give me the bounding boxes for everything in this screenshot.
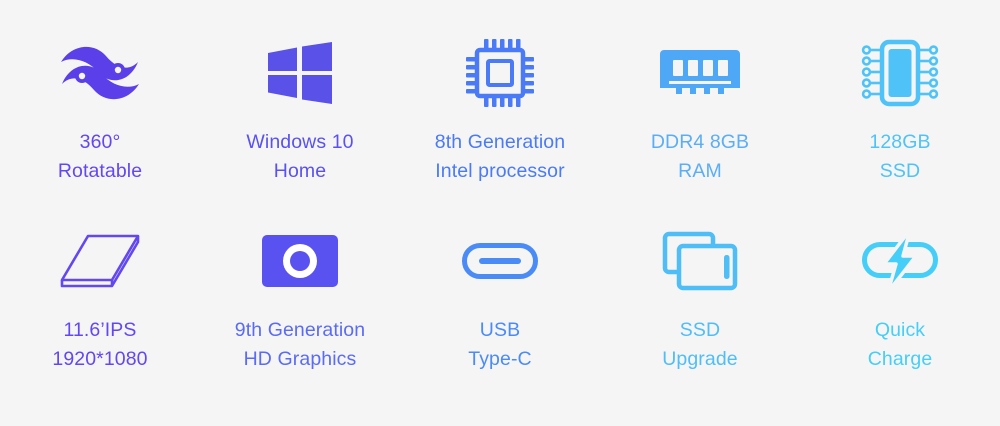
feature-item-windows-10-home: Windows 10 Home bbox=[200, 34, 400, 186]
caption-line-1: Windows 10 bbox=[246, 128, 353, 157]
memory-chip-icon bbox=[857, 34, 943, 112]
caption-line-2: Rotatable bbox=[58, 157, 142, 186]
feature-item-ssd-upgrade: SSD Upgrade bbox=[600, 222, 800, 374]
feature-item-quick-charge: Quick Charge bbox=[800, 222, 1000, 374]
display-panel-icon bbox=[57, 222, 143, 300]
caption-line-1: 8th Generation bbox=[435, 128, 565, 157]
caption-line-2: HD Graphics bbox=[235, 345, 365, 374]
caption-line-2: RAM bbox=[651, 157, 749, 186]
caption-line-1: 9th Generation bbox=[235, 316, 365, 345]
rotate-360-icon bbox=[57, 34, 143, 112]
caption-line-1: 360° bbox=[58, 128, 142, 157]
feature-spec-board: 360° Rotatable Windows 10 Home bbox=[0, 0, 1000, 426]
caption-line-2: Type-C bbox=[468, 345, 531, 374]
feature-caption: 360° Rotatable bbox=[58, 128, 142, 186]
feature-item-ips-display: 11.6’IPS 1920*1080 bbox=[0, 222, 200, 374]
ram-stick-icon bbox=[657, 34, 743, 112]
feature-item-hd-graphics: 9th Generation HD Graphics bbox=[200, 222, 400, 374]
feature-caption: DDR4 8GB RAM bbox=[651, 128, 749, 186]
caption-line-2: Intel processor bbox=[435, 157, 565, 186]
feature-caption: USB Type-C bbox=[468, 316, 531, 374]
feature-caption: Quick Charge bbox=[868, 316, 933, 374]
feature-caption: 8th Generation Intel processor bbox=[435, 128, 565, 186]
graphics-card-icon bbox=[257, 222, 343, 300]
caption-line-2: 1920*1080 bbox=[52, 345, 147, 374]
caption-line-2: SSD bbox=[869, 157, 930, 186]
feature-item-ssd-storage: 128GB SSD bbox=[800, 34, 1000, 186]
caption-line-1: 128GB bbox=[869, 128, 930, 157]
feature-item-intel-processor: 8th Generation Intel processor bbox=[400, 34, 600, 186]
feature-caption: Windows 10 Home bbox=[246, 128, 353, 186]
feature-caption: 11.6’IPS 1920*1080 bbox=[52, 316, 147, 374]
caption-line-2: Upgrade bbox=[662, 345, 738, 374]
ssd-upgrade-icon bbox=[657, 222, 743, 300]
usb-type-c-icon bbox=[457, 222, 543, 300]
caption-line-1: Quick bbox=[868, 316, 933, 345]
cpu-chip-icon bbox=[457, 34, 543, 112]
feature-caption: 9th Generation HD Graphics bbox=[235, 316, 365, 374]
quick-charge-icon bbox=[857, 222, 943, 300]
feature-caption: SSD Upgrade bbox=[662, 316, 738, 374]
feature-row-bottom: 11.6’IPS 1920*1080 9th Generation HD Gra… bbox=[0, 222, 1000, 374]
caption-line-1: 11.6’IPS bbox=[52, 316, 147, 345]
feature-caption: 128GB SSD bbox=[869, 128, 930, 186]
caption-line-1: USB bbox=[468, 316, 531, 345]
windows-logo-icon bbox=[257, 34, 343, 112]
feature-item-rotatable-360: 360° Rotatable bbox=[0, 34, 200, 186]
feature-row-top: 360° Rotatable Windows 10 Home bbox=[0, 34, 1000, 186]
feature-item-ddr4-ram: DDR4 8GB RAM bbox=[600, 34, 800, 186]
caption-line-2: Charge bbox=[868, 345, 933, 374]
caption-line-2: Home bbox=[246, 157, 353, 186]
feature-item-usb-type-c: USB Type-C bbox=[400, 222, 600, 374]
caption-line-1: DDR4 8GB bbox=[651, 128, 749, 157]
caption-line-1: SSD bbox=[662, 316, 738, 345]
